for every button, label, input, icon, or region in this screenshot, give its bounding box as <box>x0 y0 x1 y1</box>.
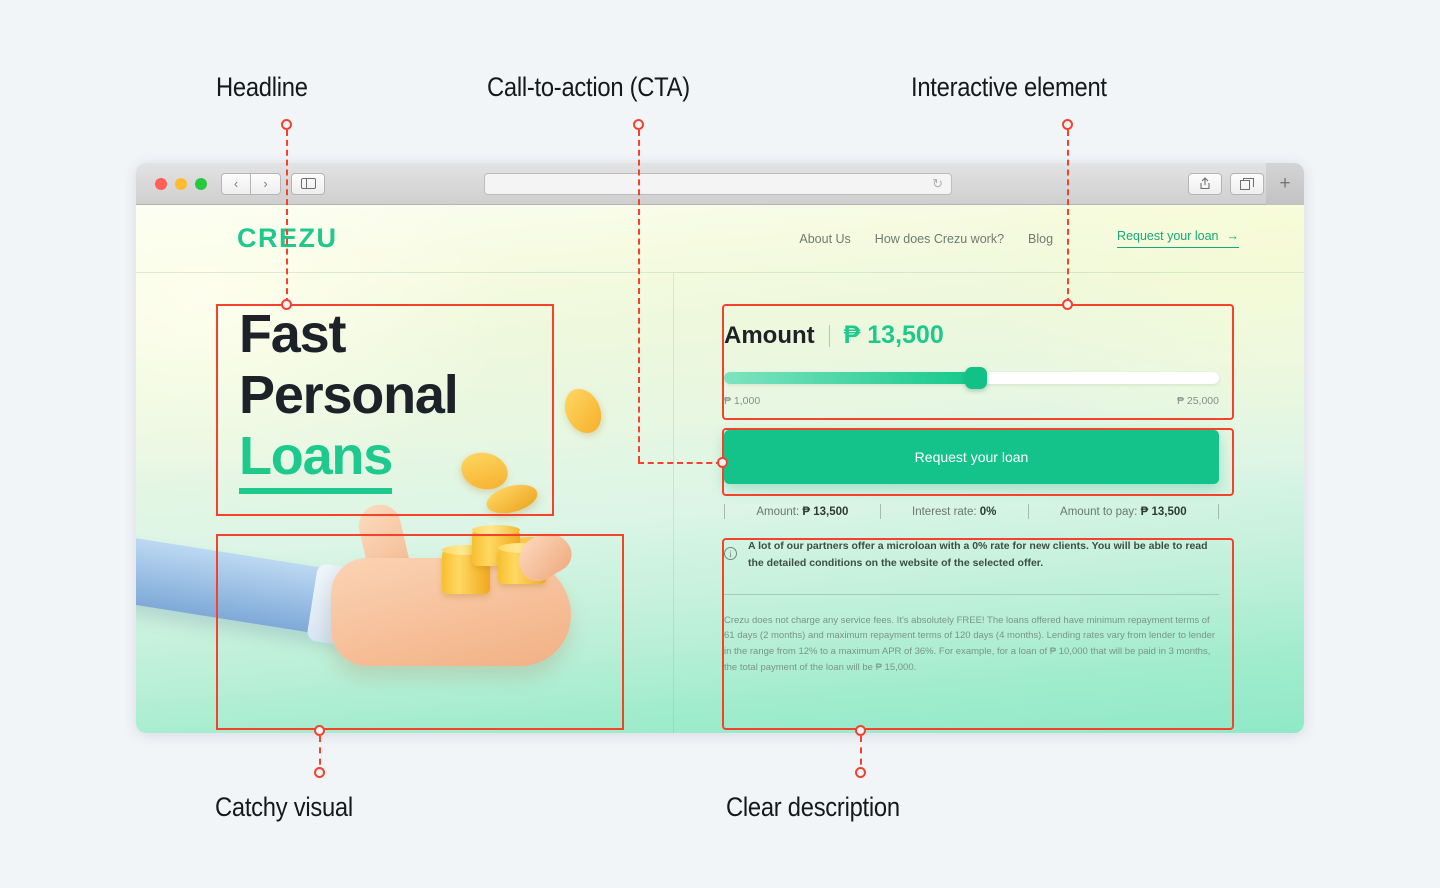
navigation-buttons: ‹ › <box>221 173 281 195</box>
amount-display-row: Amount ₱ 13,500 <box>724 321 1219 350</box>
share-glyph <box>1199 177 1211 190</box>
annotation-dot-description-end <box>855 767 866 778</box>
slider-track[interactable] <box>724 372 1219 384</box>
annotation-label-clear-description: Clear description <box>726 792 900 823</box>
summary-amount-value: ₱ 13,500 <box>802 506 848 518</box>
annotation-dot-interactive-end <box>1062 299 1073 310</box>
annotation-dot-headline-top <box>281 119 292 130</box>
loan-description-box: i A lot of our partners offer a microloa… <box>724 538 1219 675</box>
share-icon[interactable] <box>1188 173 1222 195</box>
new-tab-button[interactable]: + <box>1266 163 1304 205</box>
annotation-dot-cta-top <box>633 119 644 130</box>
annotation-line-interactive <box>1067 130 1069 304</box>
maximize-window-button[interactable] <box>195 178 207 190</box>
annotation-label-headline: Headline <box>216 72 308 103</box>
summary-item-amount: Amount: ₱ 13,500 <box>756 506 848 518</box>
info-icon: i <box>724 547 737 560</box>
slider-max-label: ₱ 25,000 <box>1177 395 1219 407</box>
browser-titlebar: ‹ › ↻ <box>136 163 1304 205</box>
summary-divider <box>880 504 881 519</box>
slider-min-label: ₱ 1,000 <box>724 395 760 407</box>
tabs-glyph <box>1240 178 1254 190</box>
headline-line-3: Loans <box>239 426 392 494</box>
summary-item-interest: Interest rate: 0% <box>912 506 996 518</box>
slider-handle[interactable] <box>965 367 987 389</box>
summary-divider <box>724 504 725 519</box>
annotation-dot-cta-end <box>717 457 728 468</box>
summary-interest-value: 0% <box>980 506 997 518</box>
arrow-right-icon: → <box>1227 229 1240 243</box>
annotation-line-headline <box>286 130 288 304</box>
hand-with-coins-illustration <box>136 488 673 733</box>
hero-left-column: Fast Personal Loans <box>136 273 673 733</box>
request-loan-button[interactable]: Request your loan <box>724 430 1219 484</box>
summary-total-value: ₱ 13,500 <box>1141 506 1187 518</box>
annotation-dot-visual-end <box>314 767 325 778</box>
forward-button[interactable]: › <box>251 173 281 195</box>
toolbar-right-buttons <box>1188 173 1264 195</box>
close-window-button[interactable] <box>155 178 167 190</box>
nav-item-how-it-works[interactable]: How does Crezu work? <box>875 232 1004 246</box>
amount-label: Amount <box>724 322 815 350</box>
hero-right-column: Amount ₱ 13,500 ₱ 1,000 ₱ 25,000 Request… <box>673 273 1304 733</box>
show-tabs-icon[interactable] <box>1230 173 1264 195</box>
nav-request-loan-label: Request your loan <box>1117 229 1218 243</box>
website-viewport: CREZU About Us How does Crezu work? Blog… <box>136 205 1304 733</box>
annotation-label-catchy-visual: Catchy visual <box>215 792 353 823</box>
browser-window: ‹ › ↻ <box>136 163 1304 733</box>
window-controls <box>155 178 207 190</box>
headline-line-2: Personal <box>239 365 458 425</box>
hero-headline: Fast Personal Loans <box>239 304 458 487</box>
summary-item-total: Amount to pay: ₱ 13,500 <box>1060 506 1187 518</box>
annotation-dot-interactive-top <box>1062 119 1073 130</box>
headline-line-1: Fast <box>239 304 345 364</box>
sidebar-toggle-icon[interactable] <box>291 173 325 195</box>
notice-text: A lot of our partners offer a microloan … <box>748 538 1219 572</box>
nav-request-loan-link[interactable]: Request your loan → <box>1117 229 1239 248</box>
sidebar-glyph <box>301 178 316 189</box>
notice-row: i A lot of our partners offer a microloa… <box>724 538 1219 572</box>
reload-icon[interactable]: ↻ <box>932 176 943 192</box>
annotation-dot-headline-end <box>281 299 292 310</box>
minimize-window-button[interactable] <box>175 178 187 190</box>
summary-interest-label: Interest rate: <box>912 506 977 518</box>
site-navigation: About Us How does Crezu work? Blog Reque… <box>799 229 1239 248</box>
slider-range-labels: ₱ 1,000 ₱ 25,000 <box>724 395 1219 407</box>
annotation-line-cta-horizontal <box>638 462 722 464</box>
slider-fill <box>724 372 976 384</box>
description-divider <box>724 594 1219 595</box>
summary-amount-label: Amount: <box>756 506 799 518</box>
address-bar[interactable]: ↻ <box>484 173 952 195</box>
annotation-label-cta: Call-to-action (CTA) <box>487 72 690 103</box>
summary-total-label: Amount to pay: <box>1060 506 1137 518</box>
site-header: CREZU About Us How does Crezu work? Blog… <box>136 205 1304 273</box>
loan-summary-row: Amount: ₱ 13,500 Interest rate: 0% Amoun… <box>724 504 1219 519</box>
annotation-dot-description-top <box>855 725 866 736</box>
summary-divider <box>1028 504 1029 519</box>
annotation-label-interactive: Interactive element <box>911 72 1107 103</box>
fineprint-text: Crezu does not charge any service fees. … <box>724 613 1219 676</box>
annotation-line-cta-vertical <box>638 130 640 462</box>
summary-divider <box>1218 504 1219 519</box>
annotation-dot-visual-top <box>314 725 325 736</box>
decorative-coin-icon <box>558 383 608 439</box>
nav-item-about-us[interactable]: About Us <box>799 232 850 246</box>
loan-calculator: Amount ₱ 13,500 ₱ 1,000 ₱ 25,000 Request… <box>724 321 1219 675</box>
amount-value: ₱ 13,500 <box>844 321 944 350</box>
amount-separator <box>829 325 830 347</box>
nav-item-blog[interactable]: Blog <box>1028 232 1053 246</box>
amount-slider[interactable]: ₱ 1,000 ₱ 25,000 <box>724 372 1219 407</box>
back-button[interactable]: ‹ <box>221 173 251 195</box>
